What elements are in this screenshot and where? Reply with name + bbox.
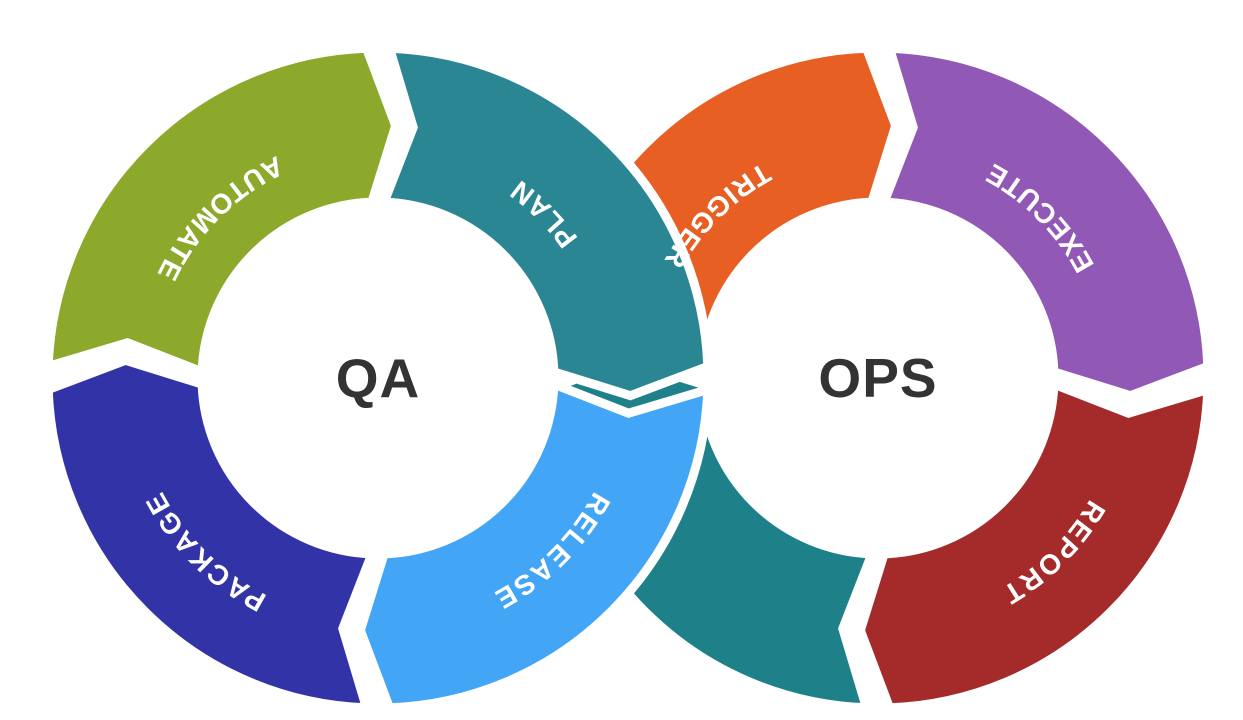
segment-report[interactable] — [860, 384, 1207, 708]
segment-package-shape[interactable] — [48, 360, 372, 707]
diagram-canvas: AUTOMATEPLANRELEASEPACKAGETRIGGEREXECUTE… — [0, 0, 1243, 720]
infinity-loop-diagram: AUTOMATEPLANRELEASEPACKAGETRIGGEREXECUTE… — [0, 0, 1243, 720]
hub-label-ops: OPS — [818, 347, 937, 409]
segment-release[interactable] — [360, 384, 707, 708]
hub-label-qa: QA — [336, 347, 421, 409]
segment-package[interactable] — [48, 360, 372, 707]
segment-release-shape[interactable] — [360, 384, 707, 708]
segment-report-shape[interactable] — [860, 384, 1207, 708]
